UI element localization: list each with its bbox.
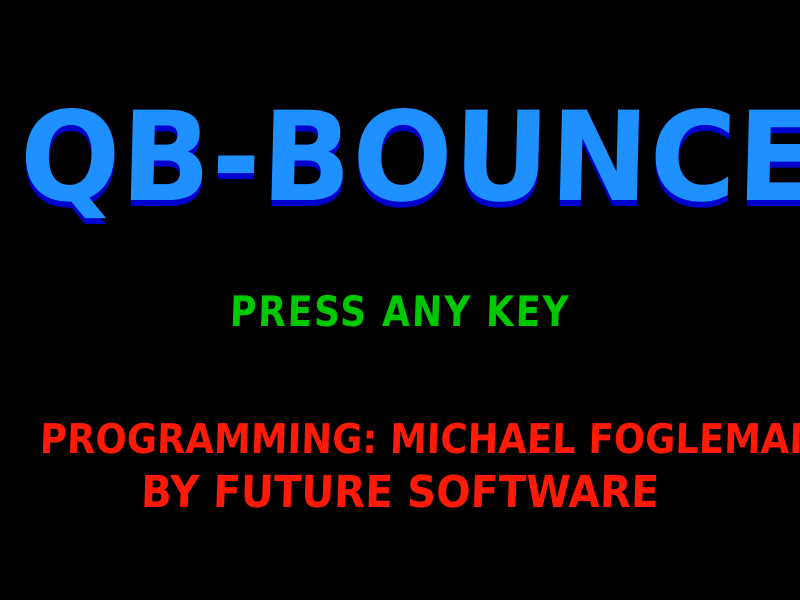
credits-block: PROGRAMMING: MICHAEL FOGLEMAN BY FUTURE …	[0, 412, 800, 520]
game-title-screen[interactable]: QB-BOUNCE QB-BOUNCE PRESS ANY KEY PROGRA…	[0, 0, 800, 600]
game-title: QB-BOUNCE QB-BOUNCE	[0, 88, 800, 238]
game-title-text: QB-BOUNCE	[18, 88, 781, 228]
credit-line-programmer: PROGRAMMING: MICHAEL FOGLEMAN	[39, 412, 761, 466]
press-any-key-prompt[interactable]: PRESS ANY KEY	[55, 288, 744, 336]
credit-line-publisher: BY FUTURE SOFTWARE	[31, 466, 769, 520]
